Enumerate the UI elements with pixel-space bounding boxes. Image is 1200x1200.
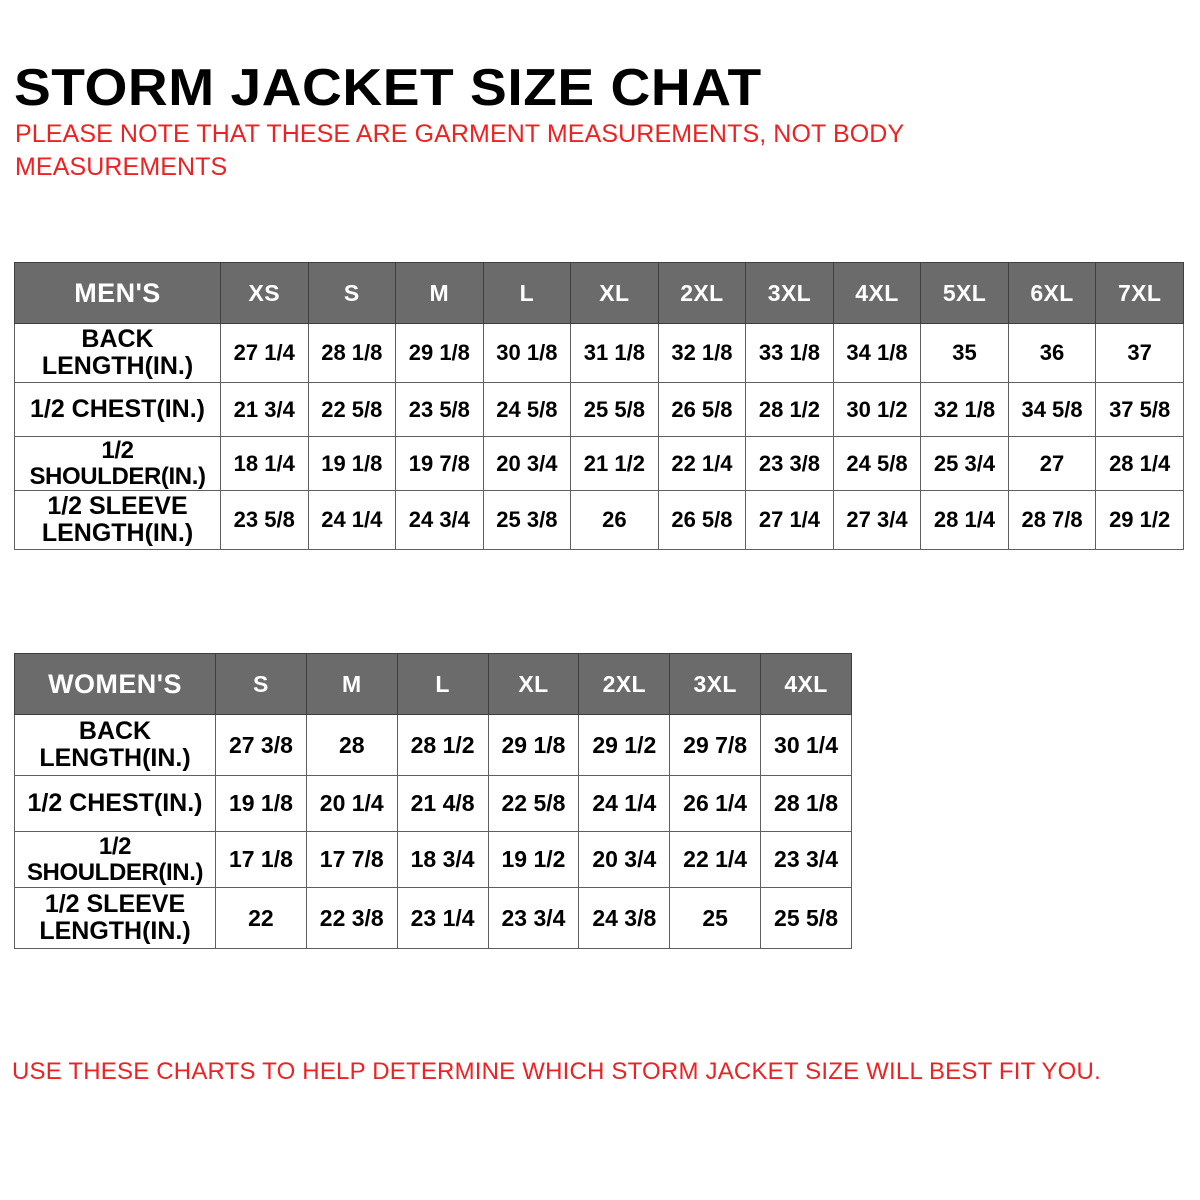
measurement-cell: 19 1/2: [488, 832, 579, 888]
size-column-header-s: S: [216, 654, 307, 715]
measurement-cell: 27: [1008, 437, 1096, 491]
measurement-cell: 31 1/8: [571, 324, 659, 383]
measurement-cell: 34 5/8: [1008, 383, 1096, 437]
measurement-row-label: 1/2 SLEEVELENGTH(IN.): [15, 888, 216, 949]
mens-category-header: MEN'S: [15, 263, 221, 324]
measurement-cell: 27 3/8: [216, 715, 307, 776]
measurement-cell: 27 1/4: [746, 491, 834, 550]
measurement-cell: 19 1/8: [216, 776, 307, 832]
table-row: 1/2 SLEEVELENGTH(IN.)23 5/824 1/424 3/42…: [15, 491, 1184, 550]
measurement-cell: 28 1/4: [921, 491, 1009, 550]
measurement-row-label: 1/2 CHEST(IN.): [15, 776, 216, 832]
measurement-cell: 26 5/8: [658, 491, 746, 550]
measurement-cell: 23 3/8: [746, 437, 834, 491]
mens-size-table: MEN'SXSSMLXL2XL3XL4XL5XL6XL7XL BACKLENGT…: [14, 262, 1184, 550]
measurement-row-label: 1/2 SLEEVELENGTH(IN.): [15, 491, 221, 550]
measurement-cell: 19 7/8: [396, 437, 484, 491]
measurement-cell: 22 1/4: [658, 437, 746, 491]
measurement-cell: 27 3/4: [833, 491, 921, 550]
measurement-cell: 27 1/4: [221, 324, 309, 383]
measurement-cell: 37: [1096, 324, 1184, 383]
measurement-cell: 25 3/4: [921, 437, 1009, 491]
measurement-cell: 22 3/8: [306, 888, 397, 949]
table-row: 1/2 CHEST(IN.)19 1/820 1/421 4/822 5/824…: [15, 776, 852, 832]
table-row: 1/2 SLEEVELENGTH(IN.)2222 3/823 1/423 3/…: [15, 888, 852, 949]
size-column-header-m: M: [306, 654, 397, 715]
table-row: 1/2 SHOULDER(IN.)18 1/419 1/819 7/820 3/…: [15, 437, 1184, 491]
size-column-header-7xl: 7XL: [1096, 263, 1184, 324]
table-row: 1/2 SHOULDER(IN.)17 1/817 7/818 3/419 1/…: [15, 832, 852, 888]
measurement-cell: 25 5/8: [761, 888, 852, 949]
measurement-cell: 22 5/8: [308, 383, 396, 437]
measurement-cell: 22: [216, 888, 307, 949]
measurement-cell: 21 4/8: [397, 776, 488, 832]
size-column-header-xl: XL: [488, 654, 579, 715]
measurement-cell: 26 1/4: [670, 776, 761, 832]
measurement-cell: 25 3/8: [483, 491, 571, 550]
measurement-row-label: 1/2 SHOULDER(IN.): [15, 437, 221, 491]
womens-table-body: BACKLENGTH(IN.)27 3/82828 1/229 1/829 1/…: [15, 715, 852, 949]
size-column-header-xl: XL: [571, 263, 659, 324]
measurement-cell: 17 7/8: [306, 832, 397, 888]
measurement-cell: 34 1/8: [833, 324, 921, 383]
measurement-cell: 37 5/8: [1096, 383, 1184, 437]
womens-size-table: WOMEN'SSMLXL2XL3XL4XL BACKLENGTH(IN.)27 …: [14, 653, 852, 949]
measurement-row-label: 1/2 CHEST(IN.): [15, 383, 221, 437]
size-column-header-4xl: 4XL: [761, 654, 852, 715]
measurement-cell: 23 5/8: [221, 491, 309, 550]
size-column-header-l: L: [397, 654, 488, 715]
measurement-cell: 29 1/8: [396, 324, 484, 383]
measurement-cell: 30 1/8: [483, 324, 571, 383]
measurement-cell: 32 1/8: [658, 324, 746, 383]
measurement-cell: 23 1/4: [397, 888, 488, 949]
measurement-cell: 30 1/2: [833, 383, 921, 437]
measurement-cell: 18 3/4: [397, 832, 488, 888]
size-chart-page: STORM JACKET SIZE CHAT PLEASE NOTE THAT …: [0, 0, 1200, 1200]
size-column-header-6xl: 6XL: [1008, 263, 1096, 324]
measurement-cell: 36: [1008, 324, 1096, 383]
measurement-cell: 25: [670, 888, 761, 949]
measurement-cell: 24 1/4: [579, 776, 670, 832]
measurement-cell: 28 1/8: [308, 324, 396, 383]
size-column-header-2xl: 2XL: [579, 654, 670, 715]
measurement-cell: 17 1/8: [216, 832, 307, 888]
measurement-cell: 29 1/2: [579, 715, 670, 776]
size-column-header-m: M: [396, 263, 484, 324]
size-column-header-xs: XS: [221, 263, 309, 324]
measurement-cell: 33 1/8: [746, 324, 834, 383]
mens-header-row: MEN'SXSSMLXL2XL3XL4XL5XL6XL7XL: [15, 263, 1184, 324]
measurement-cell: 24 5/8: [833, 437, 921, 491]
measurement-cell: 24 3/8: [579, 888, 670, 949]
measurement-cell: 29 7/8: [670, 715, 761, 776]
mens-table-body: BACKLENGTH(IN.)27 1/428 1/829 1/830 1/83…: [15, 324, 1184, 550]
size-column-header-3xl: 3XL: [746, 263, 834, 324]
measurement-row-label: 1/2 SHOULDER(IN.): [15, 832, 216, 888]
measurement-cell: 23 5/8: [396, 383, 484, 437]
measurement-cell: 26 5/8: [658, 383, 746, 437]
measurement-cell: 35: [921, 324, 1009, 383]
measurement-cell: 20 1/4: [306, 776, 397, 832]
page-title: STORM JACKET SIZE CHAT: [14, 61, 762, 116]
measurement-cell: 22 1/4: [670, 832, 761, 888]
measurement-cell: 22 5/8: [488, 776, 579, 832]
measurement-cell: 28: [306, 715, 397, 776]
measurement-cell: 20 3/4: [579, 832, 670, 888]
measurement-cell: 24 3/4: [396, 491, 484, 550]
measurement-cell: 28 7/8: [1008, 491, 1096, 550]
measurement-cell: 26: [571, 491, 659, 550]
table-row: 1/2 CHEST(IN.)21 3/422 5/823 5/824 5/825…: [15, 383, 1184, 437]
measurement-cell: 21 1/2: [571, 437, 659, 491]
measurement-cell: 24 5/8: [483, 383, 571, 437]
measurement-cell: 23 3/4: [488, 888, 579, 949]
measurement-cell: 28 1/8: [761, 776, 852, 832]
womens-category-header: WOMEN'S: [15, 654, 216, 715]
measurement-cell: 19 1/8: [308, 437, 396, 491]
size-column-header-5xl: 5XL: [921, 263, 1009, 324]
measurement-row-label: BACKLENGTH(IN.): [15, 324, 221, 383]
garment-measurement-note: PLEASE NOTE THAT THESE ARE GARMENT MEASU…: [15, 118, 975, 184]
measurement-cell: 29 1/2: [1096, 491, 1184, 550]
table-row: BACKLENGTH(IN.)27 3/82828 1/229 1/829 1/…: [15, 715, 852, 776]
measurement-cell: 32 1/8: [921, 383, 1009, 437]
size-column-header-s: S: [308, 263, 396, 324]
measurement-cell: 24 1/4: [308, 491, 396, 550]
measurement-cell: 28 1/2: [746, 383, 834, 437]
womens-table-header: WOMEN'SSMLXL2XL3XL4XL: [15, 654, 852, 715]
measurement-cell: 18 1/4: [221, 437, 309, 491]
measurement-cell: 28 1/4: [1096, 437, 1184, 491]
measurement-cell: 29 1/8: [488, 715, 579, 776]
size-column-header-3xl: 3XL: [670, 654, 761, 715]
mens-table-header: MEN'SXSSMLXL2XL3XL4XL5XL6XL7XL: [15, 263, 1184, 324]
measurement-cell: 28 1/2: [397, 715, 488, 776]
measurement-cell: 23 3/4: [761, 832, 852, 888]
size-column-header-4xl: 4XL: [833, 263, 921, 324]
measurement-row-label: BACKLENGTH(IN.): [15, 715, 216, 776]
measurement-cell: 25 5/8: [571, 383, 659, 437]
womens-header-row: WOMEN'SSMLXL2XL3XL4XL: [15, 654, 852, 715]
fit-guidance-note: USE THESE CHARTS TO HELP DETERMINE WHICH…: [12, 1058, 1101, 1086]
table-row: BACKLENGTH(IN.)27 1/428 1/829 1/830 1/83…: [15, 324, 1184, 383]
measurement-cell: 30 1/4: [761, 715, 852, 776]
size-column-header-2xl: 2XL: [658, 263, 746, 324]
size-column-header-l: L: [483, 263, 571, 324]
measurement-cell: 20 3/4: [483, 437, 571, 491]
measurement-cell: 21 3/4: [221, 383, 309, 437]
